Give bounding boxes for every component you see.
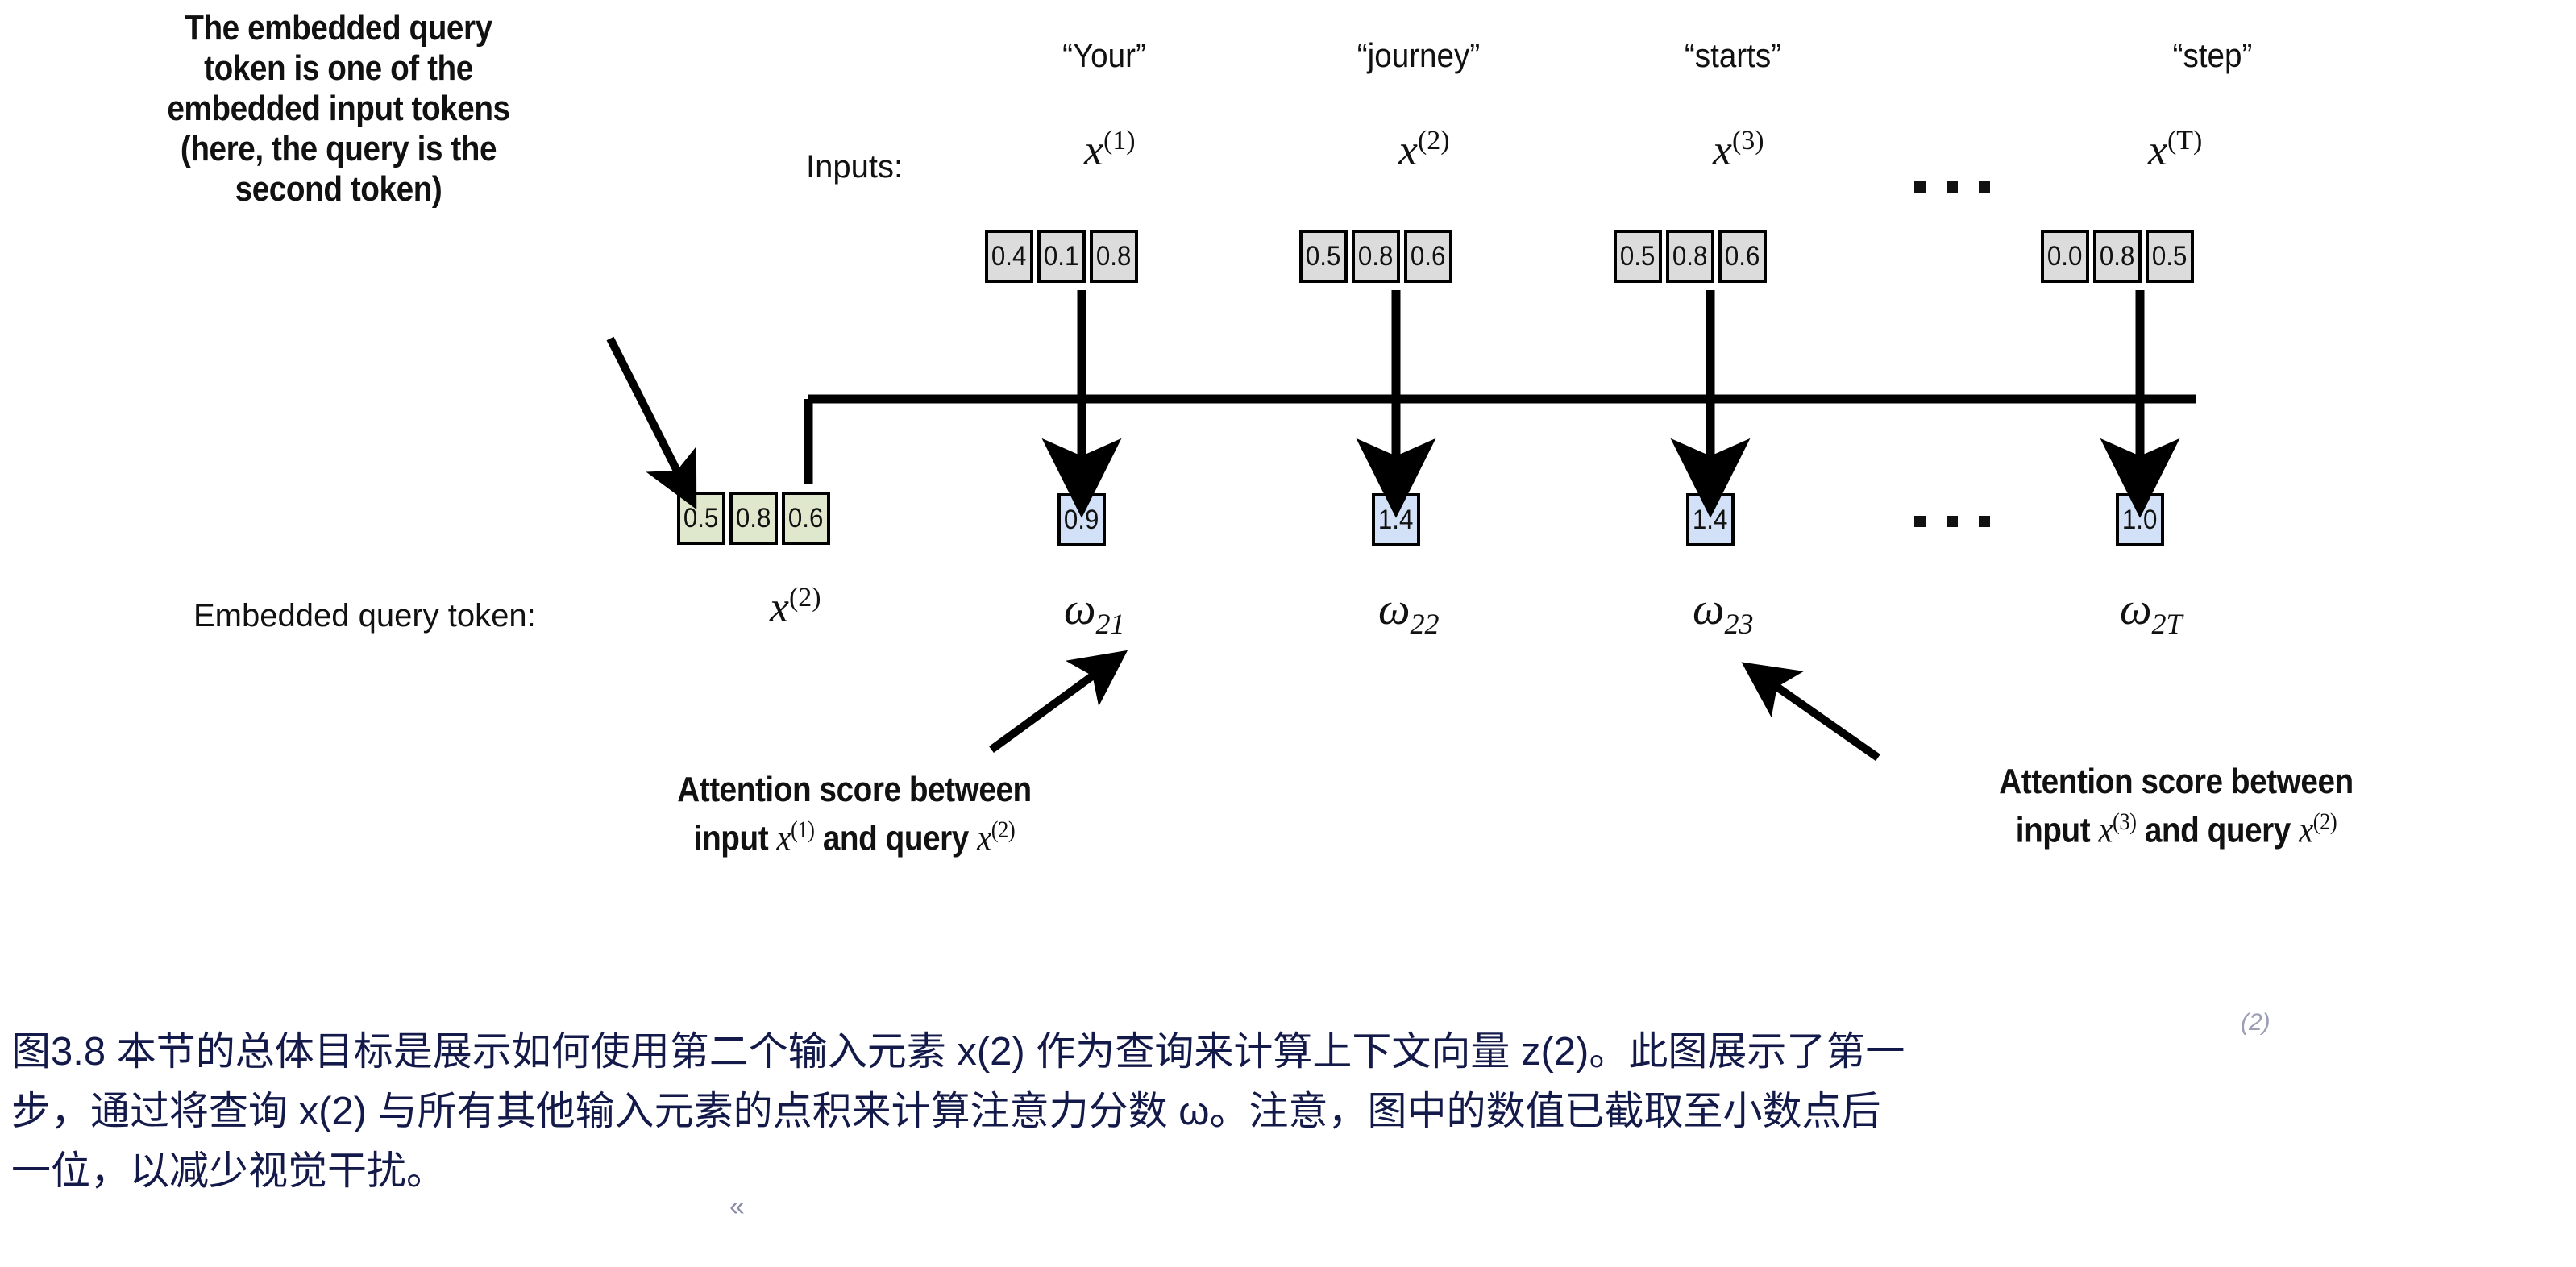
input-cell-value: 0.5 [1620,241,1655,272]
arrow-callout-left-to-score-0 [991,667,1104,750]
score-cell-value: 1.0 [2122,505,2157,536]
math-x1: x [2099,809,2113,850]
input-cell: 0.4 [985,230,1033,283]
math-x1: x [777,817,791,858]
query-vector: 0.5 0.8 0.6 [677,492,830,545]
score-box-3: 1.0 [2116,493,2164,546]
query-symbol-sup: (2) [789,583,821,613]
callout-left-line-1: Attention score between [599,770,1110,810]
input-cell-value: 0.4 [991,241,1026,272]
figure-caption: 图3.8 本节的总体目标是展示如何使用第二个输入元素 x(2) 作为查询来计算上… [11,1022,2566,1201]
input-symbol-1: x(2) [1398,125,1450,175]
math-x2-sup: (2) [991,816,1015,843]
input-cell: 0.8 [1090,230,1138,283]
inputs-label: Inputs: [806,149,903,185]
input-cell-value: 0.0 [2047,241,2082,272]
input-symbol-sup-3: (T) [2167,126,2202,156]
embedded-query-token-label: Embedded query token: [193,598,536,634]
caption-line-2: 步，通过将查询 x(2) 与所有其他输入元素的点积来计算注意力分数 ω。注意，图… [11,1082,2566,1141]
score-symbol-sub-0: 21 [1096,608,1125,640]
math-x2: x [2299,809,2313,850]
input-cell: 0.5 [2146,230,2194,283]
score-symbol-base-3: ω [2120,584,2152,634]
math-x1-sup: (3) [2113,808,2136,835]
input-cell: 0.6 [1404,230,1452,283]
input-cell-value: 0.6 [1411,241,1445,272]
text-and-query: and query [815,819,978,858]
callout-line-5: second token) [98,169,580,210]
score-cell: 1.4 [1372,493,1420,546]
caption-line-3: 一位，以减少视觉干扰。 [11,1141,2566,1201]
input-symbol-3: x(T) [2148,125,2202,175]
score-symbol-base-2: ω [1693,584,1725,634]
input-cell: 0.1 [1037,230,1086,283]
input-cell: 0.6 [1718,230,1767,283]
input-cell: 0.0 [2041,230,2089,283]
input-vector-1: 0.5 0.8 0.6 [1299,230,1452,283]
callout-right-line-1: Attention score between [1913,762,2438,802]
query-symbol: x(2) [770,582,821,632]
input-cell: 0.5 [1614,230,1662,283]
input-cell: 0.5 [1299,230,1348,283]
callout-line-1: The embedded query [98,8,580,48]
input-cell-value: 0.6 [1725,241,1760,272]
input-word-2: “starts” [1636,36,1829,75]
callout-right-line-2: input x(3) and query x(2) [1913,802,2438,851]
callout-line-4: (here, the query is the [98,129,580,169]
callout-left-line-2: input x(1) and query x(2) [599,810,1110,859]
scan-artifact-superscript: (2) [2241,1009,2271,1036]
input-word-0: “Your” [1008,36,1200,75]
score-symbol-3: ω2T [2120,584,2183,641]
input-cell-value: 0.8 [1672,241,1707,272]
math-x2: x [977,817,991,858]
input-cell-value: 0.8 [1096,241,1131,272]
score-cell: 0.9 [1057,493,1106,546]
score-box-2: 1.4 [1686,493,1735,546]
text-input: input [2016,811,2099,850]
arrow-callout-right-to-score-2 [1765,679,1878,758]
score-cell: 1.4 [1686,493,1735,546]
score-symbol-base-1: ω [1378,584,1411,634]
callout-attention-score-left: Attention score between input x(1) and q… [599,770,1110,859]
input-vector-3: 0.0 0.8 0.5 [2041,230,2194,283]
ellipsis-dot [1979,181,1990,193]
callout-embedded-query-token: The embedded query token is one of the e… [98,8,580,210]
input-cell-value: 0.5 [1306,241,1340,272]
input-vector-2: 0.5 0.8 0.6 [1614,230,1767,283]
input-vector-0: 0.4 0.1 0.8 [985,230,1138,283]
input-cell: 0.8 [1666,230,1714,283]
query-cell-value: 0.6 [788,503,823,534]
query-cell: 0.8 [729,492,778,545]
input-symbol-sup-0: (1) [1103,126,1136,156]
callout-line-2: token is one of the [98,48,580,89]
ellipsis-dot [1914,181,1926,193]
scan-artifact-glyph: « [729,1191,745,1223]
arrow-callout-to-query-vector [610,339,683,484]
score-cell: 1.0 [2116,493,2164,546]
query-cell-value: 0.5 [683,503,718,534]
ellipsis-dot [1914,516,1926,527]
input-word-1: “journey” [1322,36,1514,75]
math-x2-sup: (2) [2313,808,2337,835]
score-symbol-base-0: ω [1064,584,1096,634]
input-cell-value: 0.5 [2152,241,2187,272]
input-symbol-sup-2: (3) [1732,126,1764,156]
input-cell-value: 0.8 [1358,241,1393,272]
ellipsis-dot [1979,516,1990,527]
input-symbol-base-1: x [1398,126,1418,174]
score-cell-value: 0.9 [1064,505,1099,536]
score-cell-value: 1.4 [1693,505,1727,536]
input-symbol-base-0: x [1084,126,1103,174]
attention-score-diagram: The embedded query token is one of the e… [0,0,2576,1016]
score-symbol-sub-3: 2T [2152,608,2183,640]
score-symbol-sub-1: 22 [1411,608,1440,640]
score-box-1: 1.4 [1372,493,1420,546]
text-input: input [694,819,777,858]
input-cell-value: 0.1 [1044,241,1078,272]
input-symbol-base-2: x [1713,126,1732,174]
input-symbol-sup-1: (2) [1418,126,1450,156]
input-symbol-2: x(3) [1713,125,1764,175]
score-cell-value: 1.4 [1378,505,1413,536]
input-cell: 0.8 [1352,230,1400,283]
ellipsis-dot [1947,516,1958,527]
math-x1-sup: (1) [791,816,814,843]
score-symbol-2: ω23 [1693,584,1754,641]
input-cell: 0.8 [2093,230,2142,283]
ellipsis-scores [1914,516,1990,527]
score-box-0: 0.9 [1057,493,1106,546]
input-symbol-base-3: x [2148,126,2167,174]
score-symbol-1: ω22 [1378,584,1440,641]
ellipsis-inputs [1914,181,1990,193]
callout-line-3: embedded input tokens [98,89,580,129]
input-word-3: “step” [2116,36,2308,75]
query-cell: 0.6 [782,492,830,545]
query-symbol-base: x [770,583,789,631]
score-symbol-sub-2: 23 [1725,608,1754,640]
caption-line-1: 图3.8 本节的总体目标是展示如何使用第二个输入元素 x(2) 作为查询来计算上… [11,1022,2566,1082]
text-and-query: and query [2137,811,2300,850]
ellipsis-dot [1947,181,1958,193]
input-cell-value: 0.8 [2100,241,2134,272]
query-cell-value: 0.8 [736,503,771,534]
callout-attention-score-right: Attention score between input x(3) and q… [1913,762,2438,851]
score-symbol-0: ω21 [1064,584,1125,641]
query-cell: 0.5 [677,492,725,545]
input-symbol-0: x(1) [1084,125,1136,175]
